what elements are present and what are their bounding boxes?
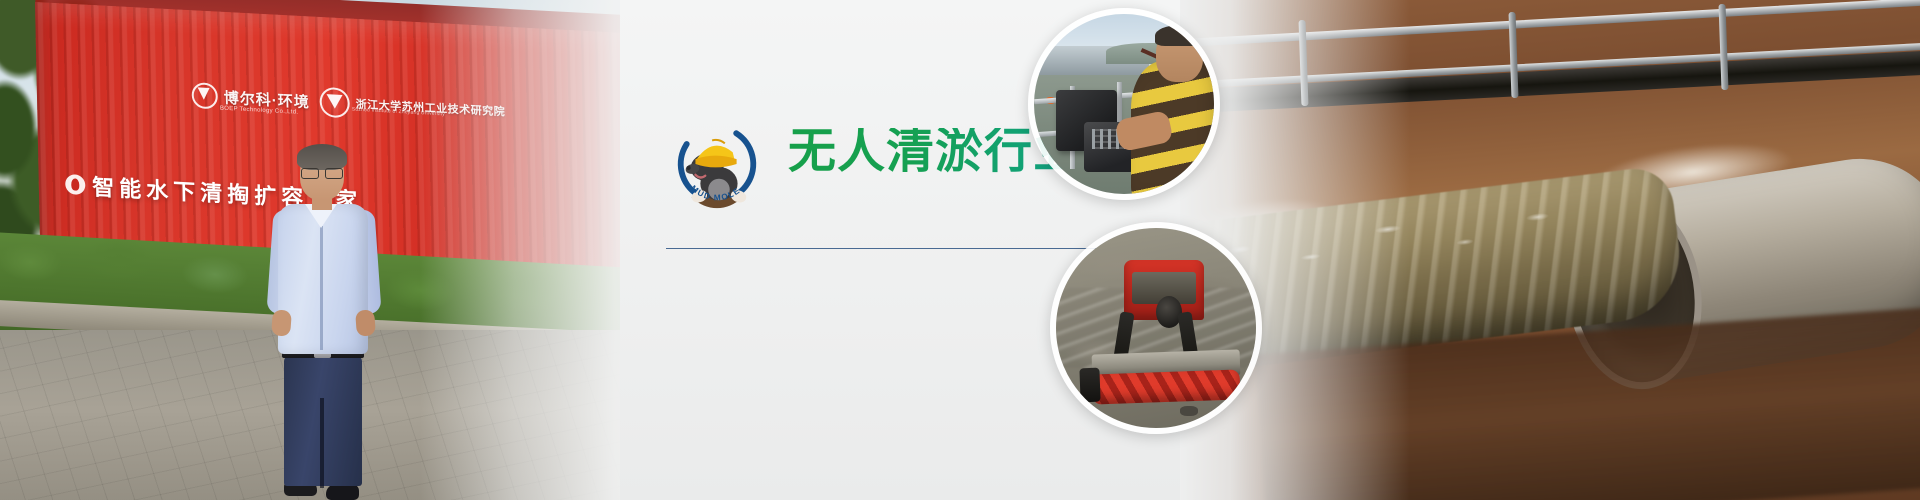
person-portrait [262, 148, 392, 500]
dredger-photo-inner [1056, 228, 1256, 428]
operator-photo-inner [1034, 14, 1214, 194]
mud-mole-logo: MUD MOLE [668, 115, 766, 213]
photo-red-dredging-robot [1050, 222, 1262, 434]
debris-rock [1180, 406, 1198, 416]
hand-left [271, 309, 292, 336]
shirt-placket [320, 226, 323, 350]
dredger-auger-screw [1092, 369, 1241, 404]
left-photo: 博尔科·环境 BOEP Technology Co.,Ltd. 浙江大学苏州工业… [0, 0, 660, 500]
slogan-bullet-icon [65, 174, 85, 195]
eyeglasses-icon [301, 168, 343, 178]
dredger-auger-housing [1079, 368, 1100, 403]
shoe-right [326, 484, 359, 500]
hand-right [355, 309, 376, 336]
hair [297, 144, 347, 170]
photo-operator-with-console [1028, 8, 1220, 200]
leg-split [320, 398, 324, 488]
right-photo-collage [1180, 0, 1920, 500]
hero-banner: 博尔科·环境 BOEP Technology Co.,Ltd. 浙江大学苏州工业… [0, 0, 1920, 500]
operator-hair [1155, 25, 1205, 47]
